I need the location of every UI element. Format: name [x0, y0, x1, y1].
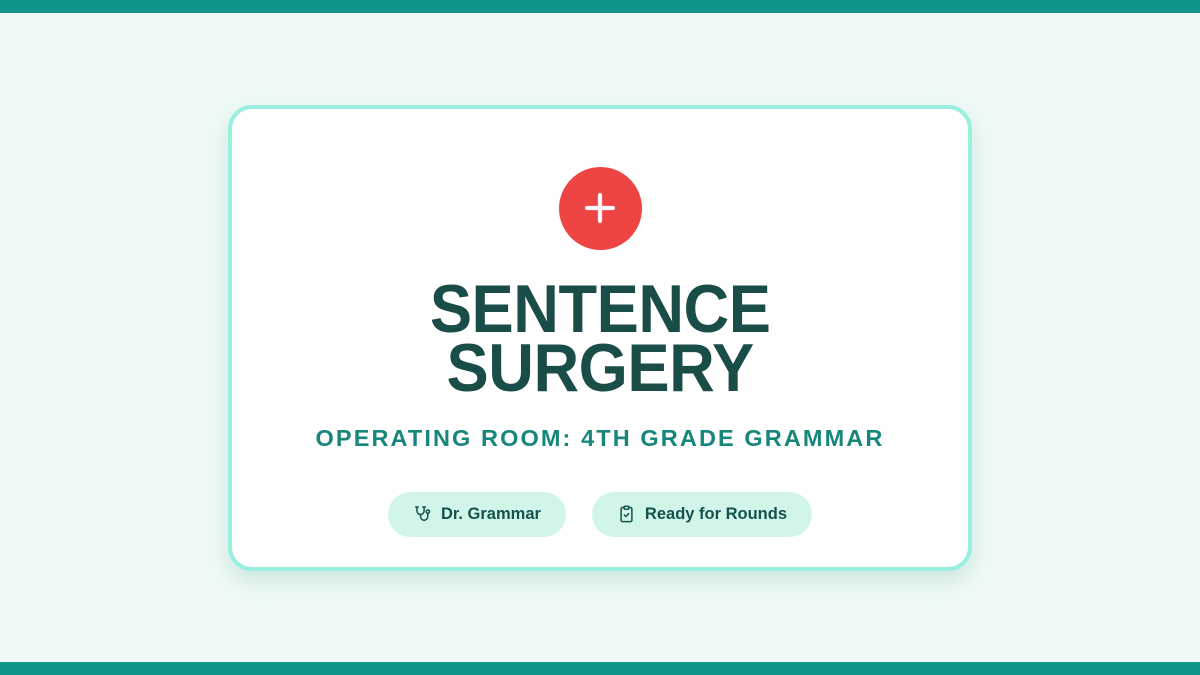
- page-title: SENTENCE SURGERY: [430, 250, 771, 400]
- title-line-2: SURGERY: [430, 339, 771, 399]
- title-card: SENTENCE SURGERY OPERATING ROOM: 4TH GRA…: [228, 105, 972, 571]
- clipboard-check-icon: [617, 505, 636, 524]
- badge-row: Dr. Grammar Ready for Rounds: [388, 452, 812, 537]
- badge-ready-for-rounds-label: Ready for Rounds: [645, 505, 787, 524]
- medical-plus-icon: [578, 186, 622, 230]
- stethoscope-icon: [413, 505, 432, 524]
- medical-plus-emblem: [559, 167, 642, 250]
- badge-ready-for-rounds: Ready for Rounds: [592, 492, 812, 537]
- page-subtitle: OPERATING ROOM: 4TH GRADE GRAMMAR: [316, 399, 885, 452]
- badge-dr-grammar: Dr. Grammar: [388, 492, 566, 537]
- bottom-accent-bar: [0, 662, 1200, 675]
- slide-stage: SENTENCE SURGERY OPERATING ROOM: 4TH GRA…: [0, 13, 1200, 662]
- top-accent-bar: [0, 0, 1200, 13]
- badge-dr-grammar-label: Dr. Grammar: [441, 505, 541, 524]
